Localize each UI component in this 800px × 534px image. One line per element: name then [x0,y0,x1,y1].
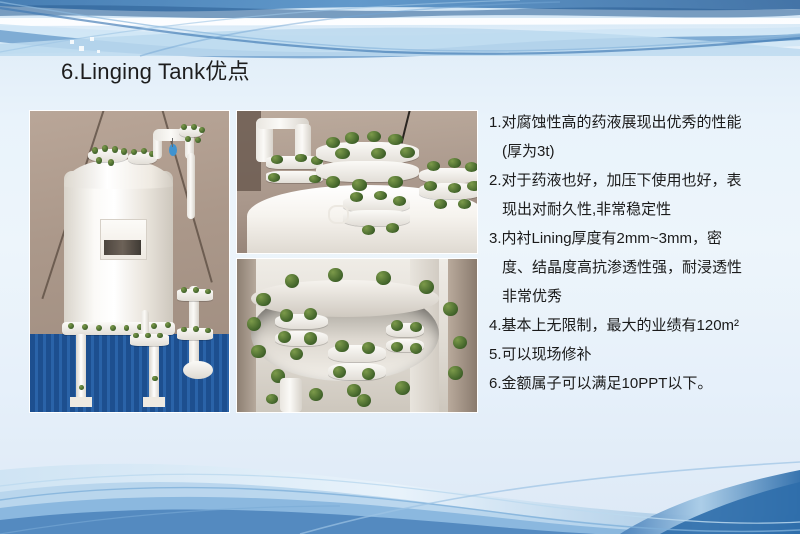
list-item-line: 3.内衬Lining厚度有2mm~3mm，密 [489,224,789,253]
list-item-line: 2.对于药液也好，加压下使用也好，表 [489,166,789,195]
list-item-line: 1.对腐蚀性高的药液展现出优秀的性能 [489,108,789,137]
list-item: 1.对腐蚀性高的药液展现出优秀的性能 (厚为3t) [489,108,789,166]
pixel-square-decor [97,50,100,53]
list-item-line: 4.基本上无限制，最大的业绩有120m² [489,311,789,340]
list-item-line: (厚为3t) [489,137,789,166]
feature-list: 1.对腐蚀性高的药液展现出优秀的性能 (厚为3t) 2.对于药液也好，加压下使用… [489,108,789,398]
slide-canvas: 6.Linging Tank优点 [0,0,800,534]
list-item-line: 5.可以现场修补 [489,340,789,369]
pixel-square-decor [90,37,94,41]
pixel-square-decor [70,40,74,44]
list-item-line: 非常优秀 [489,282,789,311]
list-item-line: 6.金额属子可以满足10PPT以下。 [489,369,789,398]
page-title: 6.Linging Tank优点 [61,57,250,87]
list-item: 6.金额属子可以满足10PPT以下。 [489,369,789,398]
list-item: 2.对于药液也好，加压下使用也好，表 现出对耐久性,非常稳定性 [489,166,789,224]
pixel-square-decor [79,46,84,51]
photo-flange-closeup [236,110,478,254]
list-item: 3.内衬Lining厚度有2mm~3mm，密 度、结晶度高抗渗透性强，耐浸透性 … [489,224,789,311]
list-item: 4.基本上无限制，最大的业绩有120m² [489,311,789,340]
photo-tank-underside [236,258,478,413]
list-item: 5.可以现场修补 [489,340,789,369]
list-item-line: 现出对耐久性,非常稳定性 [489,195,789,224]
list-item-line: 度、结晶度高抗渗透性强，耐浸透性 [489,253,789,282]
photo-tank-full-view [29,110,230,413]
